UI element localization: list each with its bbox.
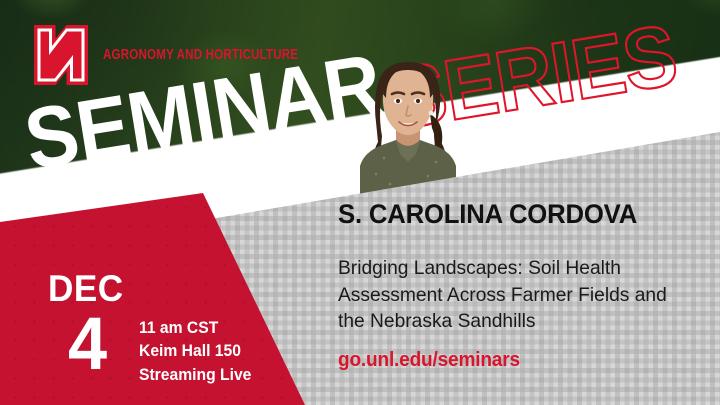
seminar-location: Keim Hall 150 [139, 340, 251, 363]
talk-title: Bridging Landscapes: Soil Health Assessm… [338, 255, 693, 335]
date-month-label: DEC [48, 272, 124, 306]
seminar-time: 11 am CST [139, 317, 251, 340]
speaker-name: S. CAROLINA CORDOVA [338, 199, 637, 230]
seminar-date: DEC 4 [48, 272, 128, 379]
unl-n-logo-icon [33, 24, 89, 86]
date-day-label: 4 [68, 309, 125, 379]
seminar-details: 11 am CST Keim Hall 150 Streaming Live [139, 317, 251, 387]
speaker-portrait-photo [356, 58, 460, 194]
seminar-url-link[interactable]: go.unl.edu/seminars [338, 348, 520, 372]
brand-header: AGRONOMY AND HORTICULTURE [33, 24, 347, 86]
unit-name-label: AGRONOMY AND HORTICULTURE [103, 47, 298, 63]
seminar-streaming: Streaming Live [139, 364, 251, 387]
seminar-poster: SERIES [0, 0, 720, 405]
